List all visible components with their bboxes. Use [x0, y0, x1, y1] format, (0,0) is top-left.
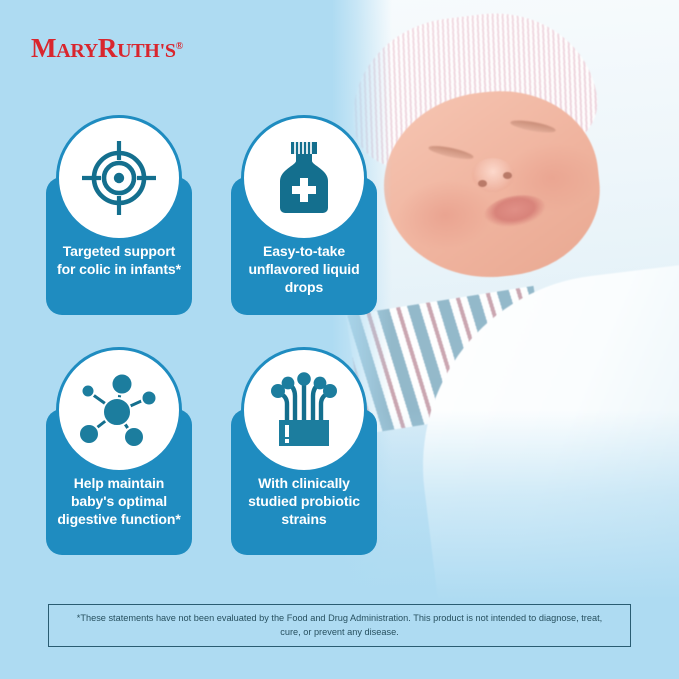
logo-uths: UTH'S	[117, 40, 176, 62]
registered-trademark-icon: ®	[176, 41, 183, 52]
photo-background	[332, 0, 679, 600]
feature-card-probiotic-strains: With clinically studied probiotic strain…	[231, 409, 377, 555]
baby-nostril-right	[503, 172, 512, 179]
logo-ary: ARY	[56, 40, 98, 62]
disclaimer-text: *These statements have not been evaluate…	[73, 612, 606, 639]
feature-label: Targeted support for colic in infants*	[52, 243, 186, 279]
feature-icon-bubble	[56, 115, 182, 241]
baby-photo	[332, 0, 679, 600]
brand-logo: MARYRUTH'S®	[31, 33, 183, 64]
feature-label: Help maintain baby's optimal digestive f…	[52, 475, 186, 529]
molecule-icon	[77, 370, 161, 450]
baby-nostril-left	[478, 180, 487, 187]
feature-icon-bubble	[241, 347, 367, 473]
feature-card-easy-to-take: Easy-to-take unflavored liquid drops	[231, 177, 377, 315]
feature-label: Easy-to-take unflavored liquid drops	[237, 243, 371, 297]
feature-card-targeted-support: Targeted support for colic in infants*	[46, 177, 192, 315]
logo-letter-m: M	[31, 33, 56, 63]
feature-card-digestive-function: Help maintain baby's optimal digestive f…	[46, 409, 192, 555]
disclaimer-box: *These statements have not been evaluate…	[48, 604, 631, 647]
target-icon	[79, 138, 159, 218]
product-feature-graphic: MARYRUTH'S® Targeted support for colic i…	[0, 0, 679, 679]
probiotic-research-icon	[265, 370, 343, 450]
medicine-bottle-icon	[265, 138, 343, 218]
feature-icon-bubble	[56, 347, 182, 473]
logo-letter-r: R	[98, 33, 117, 63]
feature-icon-bubble	[241, 115, 367, 241]
feature-label: With clinically studied probiotic strain…	[237, 475, 371, 529]
